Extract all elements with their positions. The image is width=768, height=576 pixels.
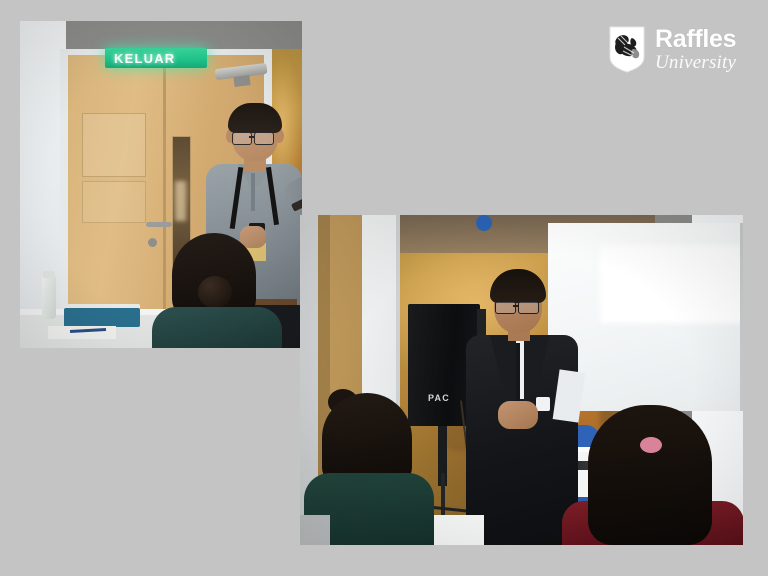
audience-right-hair — [588, 405, 712, 545]
photo-bottom-right: PAC — [300, 215, 743, 545]
brand-name: Raffles — [655, 27, 736, 52]
blue-folder — [64, 308, 140, 327]
presenter-glasses-left-lens — [495, 301, 516, 314]
door-panel-lower — [82, 181, 146, 223]
door-handle — [146, 222, 172, 227]
presenter-glasses-right-lens — [254, 132, 274, 145]
floor-shadow-left — [300, 515, 330, 545]
presenter-glasses-bridge — [513, 305, 519, 307]
brand-subtitle: University — [655, 53, 736, 72]
pa-speaker-brand-label: PAC — [428, 393, 450, 403]
audience-right-hair-tie — [640, 437, 662, 453]
exit-sign: KELUAR — [105, 48, 207, 68]
wall-blue-marker — [476, 215, 492, 231]
door-view-pane-glow — [175, 181, 186, 221]
door-panel-upper — [82, 113, 146, 177]
presenter-shirt-cuff — [536, 397, 550, 411]
presenter-hair — [228, 103, 282, 133]
audience-torso — [152, 307, 282, 348]
projection-screen-glow — [600, 245, 743, 323]
presenter-glasses-left-lens — [232, 132, 252, 145]
presenter-placket — [251, 173, 255, 211]
exit-sign-label: KELUAR — [114, 51, 175, 66]
door-lock — [148, 238, 157, 247]
door-closer-body — [233, 75, 250, 87]
presenter-glasses-bridge — [249, 136, 255, 138]
presenter-glasses-right-lens — [518, 301, 539, 314]
audience-left-hair — [322, 393, 412, 485]
slide-canvas: KELUAR PAC — [0, 0, 768, 576]
shield-crest-icon — [608, 25, 646, 73]
water-bottle — [42, 275, 56, 319]
door-split-line — [163, 55, 166, 348]
presenter-hands — [498, 401, 538, 429]
audience-hair-bun — [198, 276, 232, 308]
photo-top-left: KELUAR PAC — [20, 21, 302, 348]
brand-logo-text: Raffles University — [655, 27, 736, 72]
brand-logo: Raffles University — [608, 18, 758, 80]
projection-screen-edge — [740, 223, 743, 411]
water-bottle-cap — [43, 271, 55, 278]
